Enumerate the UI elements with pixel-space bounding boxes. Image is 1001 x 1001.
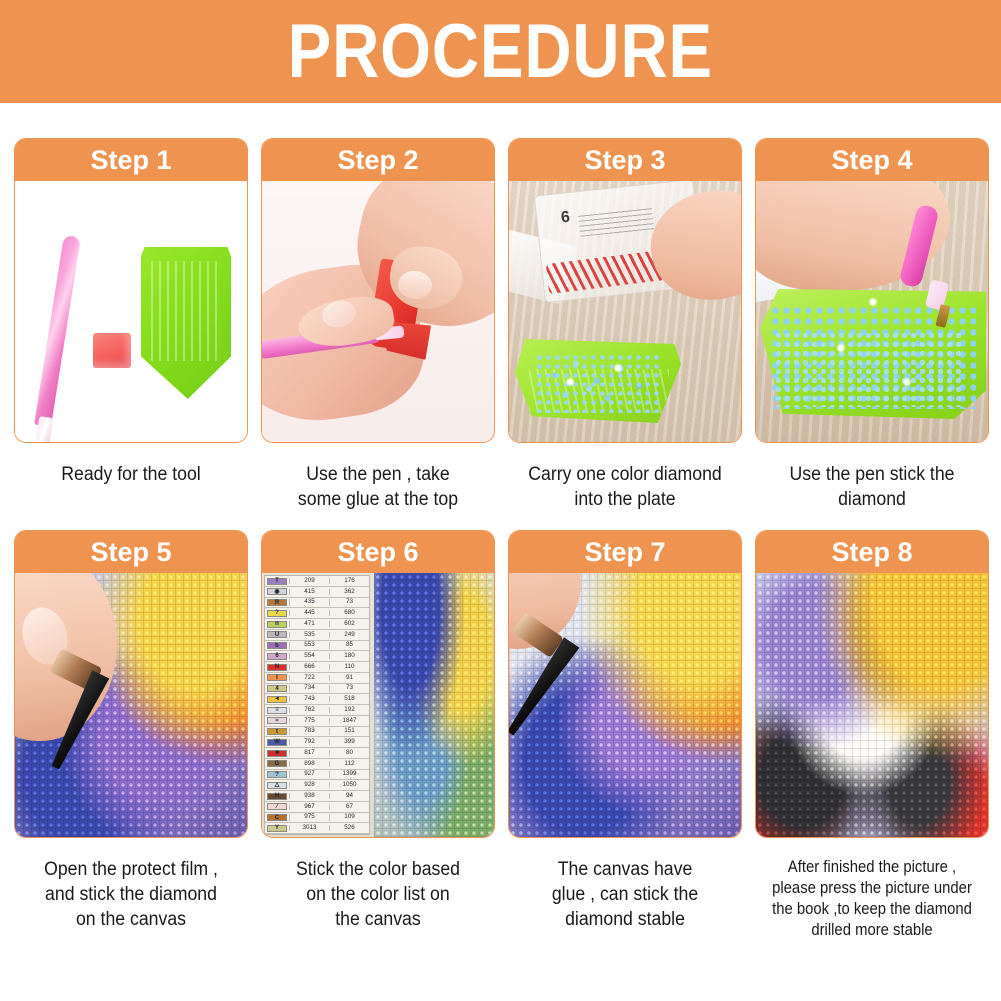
- step-5-header: Step 5: [15, 531, 247, 573]
- color-swatch-symbol: 6: [267, 653, 287, 660]
- color-swatch-symbol: 4: [267, 685, 287, 692]
- grid-row-spacer: [508, 512, 742, 530]
- color-count-cell: 109: [329, 814, 369, 820]
- color-swatch-symbol: ≡: [267, 707, 287, 714]
- color-swatch-symbol: Y: [267, 825, 287, 832]
- color-code-cell: 898: [289, 761, 329, 767]
- blue-diamonds-icon: [535, 353, 663, 413]
- color-chart-row: t783151: [265, 727, 369, 738]
- color-swatch-symbol: t: [267, 728, 287, 735]
- color-code-cell: 3013: [289, 825, 329, 831]
- color-chart-row: H93894: [265, 791, 369, 802]
- step-7-image: [509, 573, 741, 837]
- step-2-header: Step 2: [262, 139, 494, 181]
- glued-canvas-photo: [509, 573, 741, 837]
- color-code-cell: 415: [289, 589, 329, 595]
- grid-row-spacer: [261, 512, 495, 530]
- step-3-caption: Carry one color diamond into the plate: [516, 462, 734, 512]
- color-code-cell: 445: [289, 610, 329, 616]
- step-6-caption: Stick the color based on the color list …: [269, 857, 487, 932]
- step-2-caption: Use the pen , take some glue at the top: [269, 462, 487, 512]
- color-code-cell: 666: [289, 664, 329, 670]
- tools-photo: [15, 181, 247, 442]
- step-card-7: Step 7 The canvas have glue , can stick …: [508, 530, 742, 941]
- color-chart-row: 473473: [265, 684, 369, 695]
- pick-diamond-photo: [756, 181, 988, 442]
- color-code-cell: 722: [289, 675, 329, 681]
- color-count-cell: 180: [329, 653, 369, 659]
- color-chart-row: C975109: [265, 813, 369, 824]
- color-chart-row: ≡762192: [265, 705, 369, 716]
- color-count-cell: 192: [329, 707, 369, 713]
- step-8-frame: Step 8: [755, 530, 989, 838]
- color-count-cell: 94: [329, 793, 369, 799]
- step-card-3: Step 3 6: [508, 138, 742, 512]
- stick-diamond-photo: [15, 573, 247, 837]
- finished-picture-photo: [756, 573, 988, 837]
- sparkle-icon: [836, 343, 846, 353]
- page-title: PROCEDURE: [288, 14, 713, 90]
- color-swatch-symbol: I: [267, 674, 287, 681]
- color-count-cell: 73: [329, 599, 369, 605]
- color-code-cell: 734: [289, 685, 329, 691]
- color-swatch-symbol: T: [267, 578, 287, 585]
- color-chart-row: R43573: [265, 598, 369, 609]
- sparkle-icon: [613, 363, 623, 373]
- color-count-cell: 1399: [329, 771, 369, 777]
- step-1-header: Step 1: [15, 139, 247, 181]
- step-1-caption: Ready for the tool: [22, 462, 240, 487]
- color-swatch-symbol: R: [267, 599, 287, 606]
- green-tray-icon: [141, 247, 231, 399]
- step-6-frame: Step 6 T209176◉415362R43573?445680n: [261, 530, 495, 838]
- step-8-caption: After finished the picture , please pres…: [767, 857, 978, 941]
- step-7-header: Step 7: [509, 531, 741, 573]
- color-code-cell: 928: [289, 782, 329, 788]
- color-swatch-symbol: ⁄: [267, 803, 287, 810]
- glue-on-pen-photo: [262, 181, 494, 442]
- color-code-cell: 817: [289, 750, 329, 756]
- color-count-cell: 1050: [329, 782, 369, 788]
- sparkle-icon: [902, 377, 912, 387]
- pink-pen-icon: [34, 235, 81, 427]
- grid-row-spacer: [755, 512, 989, 530]
- color-swatch-symbol: N: [267, 664, 287, 671]
- color-chart-row: T209176: [265, 576, 369, 587]
- color-chart-row: N666110: [265, 662, 369, 673]
- step-4-image: [756, 181, 988, 442]
- step-5-image: [15, 573, 247, 837]
- sparkle-icon: [565, 377, 575, 387]
- color-code-cell: 927: [289, 771, 329, 777]
- color-symbol-table: T209176◉415362R43573?445680n471602U53524…: [264, 575, 370, 835]
- color-list-photo: T209176◉415362R43573?445680n471602U53524…: [262, 573, 494, 837]
- step-4-caption: Use the pen stick the diamond: [763, 462, 981, 512]
- color-chart-row: G898112: [265, 759, 369, 770]
- glue-square-icon: [93, 333, 131, 368]
- color-chart-row: U535249: [265, 630, 369, 641]
- color-count-cell: 249: [329, 632, 369, 638]
- color-count-cell: 73: [329, 685, 369, 691]
- color-code-cell: 762: [289, 707, 329, 713]
- procedure-infographic: PROCEDURE Step 1 Ready for the tool: [0, 0, 1001, 1001]
- bag-number-label: 6: [560, 209, 571, 228]
- step-card-6: Step 6 T209176◉415362R43573?445680n: [261, 530, 495, 941]
- step-1-image: [15, 181, 247, 442]
- step-card-8: Step 8 After finished the picture , plea…: [755, 530, 989, 941]
- color-swatch-symbol: U: [267, 631, 287, 638]
- step-3-image: 6: [509, 181, 741, 442]
- color-code-cell: 775: [289, 718, 329, 724]
- step-card-2: Step 2 Use the pe: [261, 138, 495, 512]
- color-chart-row: ≈7751847: [265, 716, 369, 727]
- color-code-cell: 743: [289, 696, 329, 702]
- color-count-cell: 526: [329, 825, 369, 831]
- step-3-header: Step 3: [509, 139, 741, 181]
- color-code-cell: 435: [289, 599, 329, 605]
- step-8-header: Step 8: [756, 531, 988, 573]
- step-5-frame: Step 5: [14, 530, 248, 838]
- color-code-cell: 535: [289, 632, 329, 638]
- step-6-header: Step 6: [262, 531, 494, 573]
- color-count-cell: 518: [329, 696, 369, 702]
- color-count-cell: 176: [329, 578, 369, 584]
- mosaic-grid-texture: [374, 573, 494, 837]
- color-chart-row: ?445680: [265, 608, 369, 619]
- color-count-cell: 602: [329, 621, 369, 627]
- step-6-image: T209176◉415362R43573?445680n471602U53524…: [262, 573, 494, 837]
- color-count-cell: 151: [329, 728, 369, 734]
- color-swatch-symbol: ■: [267, 750, 287, 757]
- color-swatch-symbol: ◉: [267, 588, 287, 595]
- color-count-cell: 399: [329, 739, 369, 745]
- color-swatch-symbol: ≈: [267, 717, 287, 724]
- color-chart-row: I72291: [265, 673, 369, 684]
- color-chart-row: ◄743518: [265, 694, 369, 705]
- step-5-caption: Open the protect film , and stick the di…: [22, 857, 240, 932]
- color-code-cell: 967: [289, 804, 329, 810]
- color-code-cell: 938: [289, 793, 329, 799]
- color-chart-row: ◉415362: [265, 587, 369, 598]
- color-count-cell: 362: [329, 589, 369, 595]
- steps-grid: Step 1 Ready for the tool Step 2: [14, 138, 988, 941]
- color-count-cell: 91: [329, 675, 369, 681]
- color-code-cell: 975: [289, 814, 329, 820]
- step-card-1: Step 1 Ready for the tool: [14, 138, 248, 512]
- color-swatch-symbol: △: [267, 782, 287, 789]
- color-count-cell: 112: [329, 761, 369, 767]
- step-1-frame: Step 1: [14, 138, 248, 443]
- color-count-cell: 680: [329, 610, 369, 616]
- color-code-cell: 553: [289, 642, 329, 648]
- color-swatch-symbol: G: [267, 760, 287, 767]
- color-count-cell: 110: [329, 664, 369, 670]
- step-7-caption: The canvas have glue , can stick the dia…: [516, 857, 734, 932]
- step-3-frame: Step 3 6: [508, 138, 742, 443]
- step-2-frame: Step 2: [261, 138, 495, 443]
- color-code-cell: 783: [289, 728, 329, 734]
- mosaic-grid-texture: [756, 573, 988, 837]
- color-swatch-symbol: H: [267, 793, 287, 800]
- blue-diamonds-icon: [774, 331, 964, 407]
- color-chart-row: n471602: [265, 619, 369, 630]
- step-card-5: Step 5 Open the protect film , and stick…: [14, 530, 248, 941]
- step-card-4: Step 4: [755, 138, 989, 512]
- step-4-frame: Step 4: [755, 138, 989, 443]
- mosaic-preview: [374, 573, 494, 837]
- color-chart-row: ?9271399: [265, 770, 369, 781]
- step-8-image: [756, 573, 988, 837]
- color-chart-row: ⁄96767: [265, 802, 369, 813]
- page-header-banner: PROCEDURE: [0, 0, 1001, 103]
- canvas-strip: [374, 573, 494, 837]
- color-code-cell: 792: [289, 739, 329, 745]
- color-swatch-symbol: b: [267, 642, 287, 649]
- color-code-cell: 209: [289, 578, 329, 584]
- color-swatch-symbol: ◄: [267, 696, 287, 703]
- color-count-cell: 67: [329, 804, 369, 810]
- color-chart-row: W792399: [265, 737, 369, 748]
- color-chart-row: △9281050: [265, 780, 369, 791]
- color-count-cell: 1847: [329, 718, 369, 724]
- step-2-image: [262, 181, 494, 442]
- color-swatch-symbol: C: [267, 814, 287, 821]
- sparkle-icon: [868, 297, 878, 307]
- color-swatch-symbol: W: [267, 739, 287, 746]
- color-swatch-symbol: n: [267, 621, 287, 628]
- step-7-frame: Step 7: [508, 530, 742, 838]
- color-chart-row: 6554180: [265, 651, 369, 662]
- color-count-cell: 85: [329, 642, 369, 648]
- color-swatch-symbol: ?: [267, 771, 287, 778]
- pour-diamonds-photo: 6: [509, 181, 741, 442]
- step-4-header: Step 4: [756, 139, 988, 181]
- color-chart-row: Y3013526: [265, 823, 369, 834]
- color-chart-row: ■81780: [265, 748, 369, 759]
- color-chart-row: b55385: [265, 641, 369, 652]
- color-code-cell: 554: [289, 653, 329, 659]
- color-count-cell: 80: [329, 750, 369, 756]
- color-swatch-symbol: ?: [267, 610, 287, 617]
- color-code-cell: 471: [289, 621, 329, 627]
- grid-row-spacer: [14, 512, 248, 530]
